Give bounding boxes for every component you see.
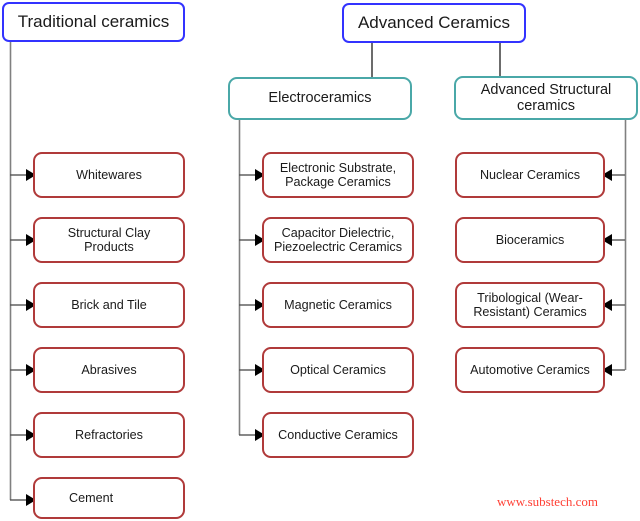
node-automotive-ceramics[interactable]: Automotive Ceramics bbox=[455, 347, 605, 393]
node-label: Abrasives bbox=[81, 363, 136, 377]
node-tribological-wear-resistant-ceramics[interactable]: Tribological (Wear- Resistant) Ceramics bbox=[455, 282, 605, 328]
node-label: Capacitor Dielectric, Piezoelectric Cera… bbox=[274, 226, 402, 254]
node-label: Advanced Ceramics bbox=[358, 13, 510, 32]
node-advanced-structural-ceramics[interactable]: Advanced Structural ceramics bbox=[454, 76, 638, 120]
node-magnetic-ceramics[interactable]: Magnetic Ceramics bbox=[262, 282, 414, 328]
node-label: Electroceramics bbox=[268, 90, 371, 106]
node-label: Automotive Ceramics bbox=[470, 363, 590, 377]
node-bioceramics[interactable]: Bioceramics bbox=[455, 217, 605, 263]
node-label: Tribological (Wear- Resistant) Ceramics bbox=[473, 291, 586, 319]
node-label: Cement bbox=[69, 491, 113, 505]
node-label: Refractories bbox=[75, 428, 143, 442]
node-label: Bioceramics bbox=[496, 233, 565, 247]
node-traditional-ceramics[interactable]: Traditional ceramics bbox=[2, 2, 185, 42]
node-electroceramics[interactable]: Electroceramics bbox=[228, 77, 412, 120]
node-whitewares[interactable]: Whitewares bbox=[33, 152, 185, 198]
diagram-canvas: Traditional ceramics Advanced Ceramics E… bbox=[0, 0, 640, 521]
node-label: Traditional ceramics bbox=[18, 12, 169, 31]
node-nuclear-ceramics[interactable]: Nuclear Ceramics bbox=[455, 152, 605, 198]
node-cement[interactable]: Cement bbox=[33, 477, 185, 519]
watermark: www.substech.com bbox=[497, 494, 598, 510]
node-refractories[interactable]: Refractories bbox=[33, 412, 185, 458]
node-label: Conductive Ceramics bbox=[278, 428, 398, 442]
node-label: Magnetic Ceramics bbox=[284, 298, 392, 312]
node-advanced-ceramics[interactable]: Advanced Ceramics bbox=[342, 3, 526, 43]
node-label: Optical Ceramics bbox=[290, 363, 386, 377]
node-label: Nuclear Ceramics bbox=[480, 168, 580, 182]
node-conductive-ceramics[interactable]: Conductive Ceramics bbox=[262, 412, 414, 458]
node-label: Electronic Substrate, Package Ceramics bbox=[280, 161, 396, 189]
node-capacitor-dielectric-piezoelectric-ceramics[interactable]: Capacitor Dielectric, Piezoelectric Cera… bbox=[262, 217, 414, 263]
node-electronic-substrate-package-ceramics[interactable]: Electronic Substrate, Package Ceramics bbox=[262, 152, 414, 198]
node-brick-and-tile[interactable]: Brick and Tile bbox=[33, 282, 185, 328]
node-label: Whitewares bbox=[76, 168, 142, 182]
node-label: Advanced Structural ceramics bbox=[481, 82, 612, 114]
node-label: Structural Clay Products bbox=[68, 226, 151, 254]
node-label: Brick and Tile bbox=[71, 298, 147, 312]
node-structural-clay-products[interactable]: Structural Clay Products bbox=[33, 217, 185, 263]
node-abrasives[interactable]: Abrasives bbox=[33, 347, 185, 393]
node-optical-ceramics[interactable]: Optical Ceramics bbox=[262, 347, 414, 393]
